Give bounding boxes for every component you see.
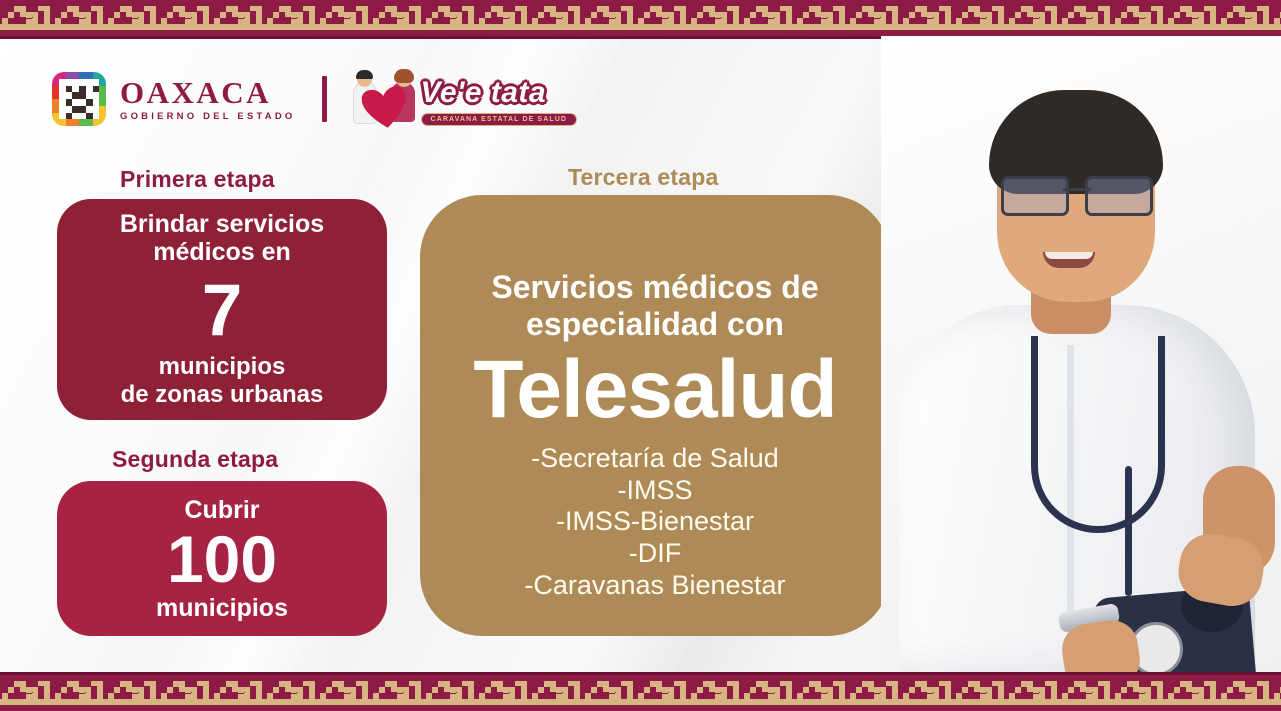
greca-pattern-strip-top [0, 0, 1281, 36]
stage-3-card: Servicios médicos de especialidad con Te… [420, 195, 890, 636]
mosaic-cell [99, 72, 106, 79]
mosaic-cell [79, 86, 86, 93]
mosaic-cell [66, 106, 73, 113]
greca-motif [106, 675, 159, 711]
greca-motif [954, 0, 1007, 36]
mosaic-cell [59, 86, 66, 93]
veetata-doctor-hair [356, 70, 373, 79]
greca-motif [742, 0, 795, 36]
mosaic-cell [52, 79, 59, 86]
list-item: -Secretaría de Salud [524, 443, 785, 475]
mosaic-cell [72, 79, 79, 86]
mosaic-cell [59, 106, 66, 113]
greca-motif [53, 675, 106, 711]
stage-2-number: 100 [167, 526, 277, 592]
list-item: -Caravanas Bienestar [524, 570, 785, 602]
greca-motif [371, 675, 424, 711]
greca-border-bottom [0, 672, 1281, 711]
mosaic-cell [52, 106, 59, 113]
greca-motif [0, 675, 53, 711]
mosaic-cell [86, 86, 93, 93]
greca-motif [1272, 675, 1281, 711]
greca-motif [0, 0, 53, 36]
stage-1-bottom-line1: municipios [159, 353, 286, 380]
mosaic-cell [66, 92, 73, 99]
greca-motif [848, 675, 901, 711]
greca-motif [159, 675, 212, 711]
stage-3-top-line2: especialidad con [526, 306, 784, 342]
oaxaca-title: OAXACA [120, 77, 296, 108]
stage-1-card: Brindar servicios médicos en 7 municipio… [57, 199, 387, 420]
mosaic-cell [99, 86, 106, 93]
mosaic-cell [93, 72, 100, 79]
mosaic-cell [93, 113, 100, 120]
greca-motif [53, 0, 106, 36]
mosaic-cell [79, 119, 86, 126]
doctor-teeth [1045, 252, 1093, 259]
greca-motif [1272, 0, 1281, 36]
mosaic-cell [72, 119, 79, 126]
eyeglasses-left-lens [1001, 176, 1069, 216]
mosaic-cell [66, 113, 73, 120]
mosaic-cell [52, 99, 59, 106]
greca-motif [318, 0, 371, 36]
header-divider [322, 76, 327, 122]
mosaic-cell [93, 106, 100, 113]
greca-motif [106, 0, 159, 36]
mosaic-cell [86, 92, 93, 99]
greca-motif [1219, 0, 1272, 36]
mosaic-cell [93, 119, 100, 126]
stethoscope-tube [1125, 466, 1132, 596]
mosaic-cell [86, 79, 93, 86]
greca-motif [954, 675, 1007, 711]
mosaic-cell [99, 113, 106, 120]
stage-1-heading: Primera etapa [120, 166, 275, 193]
mosaic-cell [93, 79, 100, 86]
mosaic-cell [72, 92, 79, 99]
greca-motif [1219, 675, 1272, 711]
greca-motif [583, 0, 636, 36]
greca-motif [1113, 675, 1166, 711]
veetata-tagline: CARAVANA ESTATAL DE SALUD [421, 113, 578, 126]
mosaic-cell [72, 99, 79, 106]
stage-3-top-line1: Servicios médicos de [491, 269, 818, 305]
mosaic-cell [93, 86, 100, 93]
mosaic-cell [79, 72, 86, 79]
mosaic-cell [59, 92, 66, 99]
greca-motif [159, 0, 212, 36]
mosaic-cell [93, 99, 100, 106]
mosaic-cell [86, 106, 93, 113]
mosaic-cell [52, 119, 59, 126]
stage-1-bottom-text: municipios de zonas urbanas [121, 353, 324, 410]
list-item: -IMSS [524, 475, 785, 507]
greca-motif [1060, 0, 1113, 36]
mosaic-cell [72, 113, 79, 120]
greca-motif [636, 0, 689, 36]
greca-motif [1166, 0, 1219, 36]
stage-3-top-text: Servicios médicos de especialidad con [491, 269, 818, 343]
mosaic-cell [59, 119, 66, 126]
list-item: -IMSS-Bienestar [524, 506, 785, 538]
mosaic-cell [72, 106, 79, 113]
mosaic-cell [93, 92, 100, 99]
oaxaca-mosaic-logo [52, 72, 106, 126]
stage-3-heading: Tercera etapa [568, 164, 718, 191]
greca-motif [1007, 675, 1060, 711]
veetata-woman-hair [394, 69, 414, 83]
stage-1-bottom-line2: de zonas urbanas [121, 381, 324, 408]
stage-2-bottom-text: municipios [156, 594, 288, 622]
header-logos: OAXACA GOBIERNO DEL ESTADO Ve'e tata CAR… [52, 68, 577, 130]
mosaic-cell [72, 86, 79, 93]
mosaic-cell [86, 72, 93, 79]
greca-motif [742, 675, 795, 711]
mosaic-cell [99, 79, 106, 86]
veetata-characters-heart-icon [351, 68, 425, 130]
mosaic-cell [79, 113, 86, 120]
greca-motif [1007, 0, 1060, 36]
mosaic-cell [59, 79, 66, 86]
mosaic-cell [99, 119, 106, 126]
stage-3-highlight: Telesalud [473, 349, 836, 431]
greca-motif [424, 675, 477, 711]
mosaic-cell [99, 106, 106, 113]
greca-motif [689, 0, 742, 36]
greca-motif [265, 675, 318, 711]
greca-motif [636, 675, 689, 711]
greca-motif [477, 675, 530, 711]
list-item: -DIF [524, 538, 785, 570]
stethoscope-icon [1031, 336, 1165, 533]
greca-motif [795, 0, 848, 36]
greca-motif [212, 0, 265, 36]
stage-2-card: Cubrir 100 municipios [57, 481, 387, 636]
mosaic-cell [99, 99, 106, 106]
mosaic-cell [52, 72, 59, 79]
eyeglasses-icon [1001, 176, 1153, 210]
eyeglasses-right-lens [1085, 176, 1153, 216]
veetata-name: Ve'e tata [421, 78, 578, 108]
stage-2-top-text: Cubrir [185, 496, 260, 524]
mosaic-cell [66, 119, 73, 126]
greca-motif [424, 0, 477, 36]
mosaic-cell [66, 72, 73, 79]
stage-1-number: 7 [202, 274, 243, 347]
greca-motif [212, 675, 265, 711]
greca-motif [1113, 0, 1166, 36]
mosaic-cell [59, 72, 66, 79]
greca-motif [530, 0, 583, 36]
mosaic-cell [52, 92, 59, 99]
heart-icon [360, 85, 409, 131]
mosaic-cell [52, 113, 59, 120]
mosaic-cell [86, 119, 93, 126]
oaxaca-subtitle: GOBIERNO DEL ESTADO [120, 112, 296, 122]
mosaic-cell [66, 86, 73, 93]
greca-pattern-strip-bottom [0, 675, 1281, 711]
stage-3-institution-list: -Secretaría de Salud -IMSS -IMSS-Bienest… [524, 443, 785, 601]
greca-motif [689, 675, 742, 711]
oaxaca-mosaic-grid [52, 72, 106, 126]
greca-motif [1060, 675, 1113, 711]
greca-motif [530, 675, 583, 711]
greca-border-top [0, 0, 1281, 39]
mosaic-cell [72, 72, 79, 79]
poster-root: OAXACA GOBIERNO DEL ESTADO Ve'e tata CAR… [0, 0, 1281, 711]
mosaic-cell [79, 99, 86, 106]
mosaic-cell [86, 99, 93, 106]
mosaic-cell [66, 99, 73, 106]
doctor-with-blood-pressure-monitor-photo [881, 36, 1281, 675]
mosaic-cell [59, 99, 66, 106]
mosaic-cell [52, 86, 59, 93]
greca-motif [848, 0, 901, 36]
veetata-text: Ve'e tata CARAVANA ESTATAL DE SALUD [421, 78, 578, 126]
mosaic-cell [79, 79, 86, 86]
mosaic-cell [79, 92, 86, 99]
greca-motif [901, 675, 954, 711]
greca-motif [795, 675, 848, 711]
mosaic-cell [59, 113, 66, 120]
eyeglasses-bridge [1063, 188, 1091, 191]
greca-motif [901, 0, 954, 36]
stage-1-top-text: Brindar servicios médicos en [67, 210, 377, 266]
greca-motif [1166, 675, 1219, 711]
greca-motif [265, 0, 318, 36]
greca-motif [371, 0, 424, 36]
greca-motif [583, 675, 636, 711]
mosaic-cell [79, 106, 86, 113]
veetata-logo: Ve'e tata CARAVANA ESTATAL DE SALUD [351, 68, 578, 130]
greca-motif [318, 675, 371, 711]
mosaic-cell [66, 79, 73, 86]
mosaic-cell [99, 92, 106, 99]
mosaic-cell [86, 113, 93, 120]
oaxaca-wordmark: OAXACA GOBIERNO DEL ESTADO [120, 77, 296, 122]
greca-motif [477, 0, 530, 36]
stage-2-heading: Segunda etapa [112, 446, 278, 473]
